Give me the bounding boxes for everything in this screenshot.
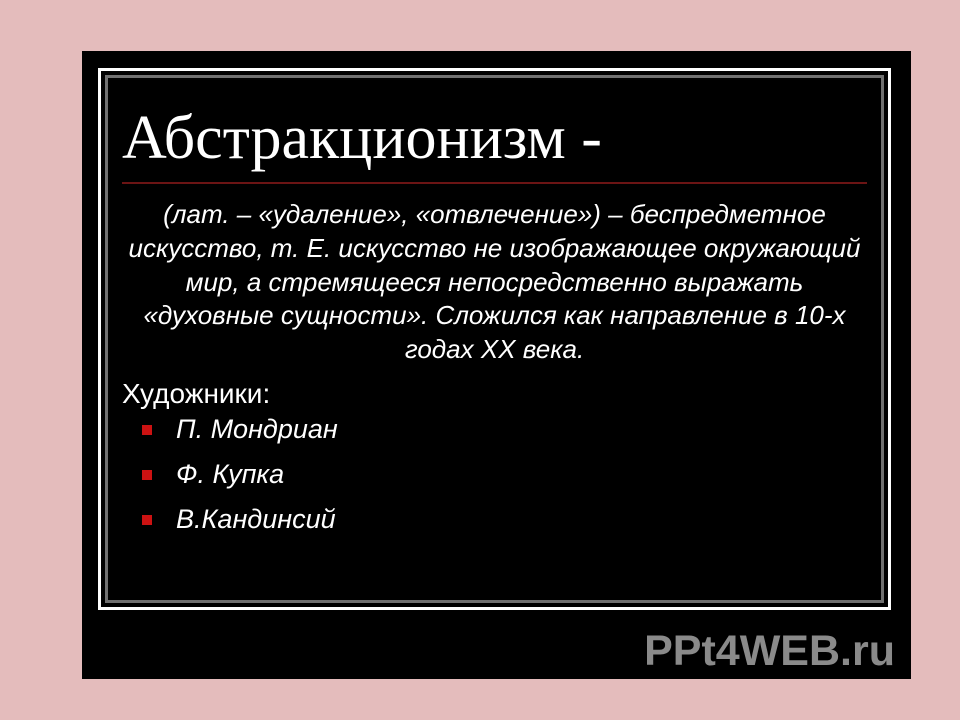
list-item: П. Мондриан xyxy=(114,416,875,443)
slide-canvas: Абстракционизм - (лат. – «удаление», «от… xyxy=(0,0,960,720)
square-bullet-icon xyxy=(142,425,152,435)
list-item: В.Кандинсий xyxy=(114,506,875,533)
presentation-slide: Абстракционизм - (лат. – «удаление», «от… xyxy=(82,51,911,679)
slide-title: Абстракционизм - xyxy=(114,84,875,169)
artist-name: П. Мондриан xyxy=(176,414,338,444)
artist-name: В.Кандинсий xyxy=(176,504,336,534)
artist-name: Ф. Купка xyxy=(176,459,284,489)
square-bullet-icon xyxy=(142,470,152,480)
definition-paragraph: (лат. – «удаление», «отвлечение») – бесп… xyxy=(120,198,869,367)
artists-list: П. Мондриан Ф. Купка В.Кандинсий xyxy=(114,416,875,533)
square-bullet-icon xyxy=(142,515,152,525)
list-item: Ф. Купка xyxy=(114,461,875,488)
site-watermark: PPt4WEB.ru xyxy=(644,630,895,673)
artists-label: Художники: xyxy=(122,379,875,410)
title-divider-rule xyxy=(122,182,867,184)
slide-content: Абстракционизм - (лат. – «удаление», «от… xyxy=(114,84,875,594)
